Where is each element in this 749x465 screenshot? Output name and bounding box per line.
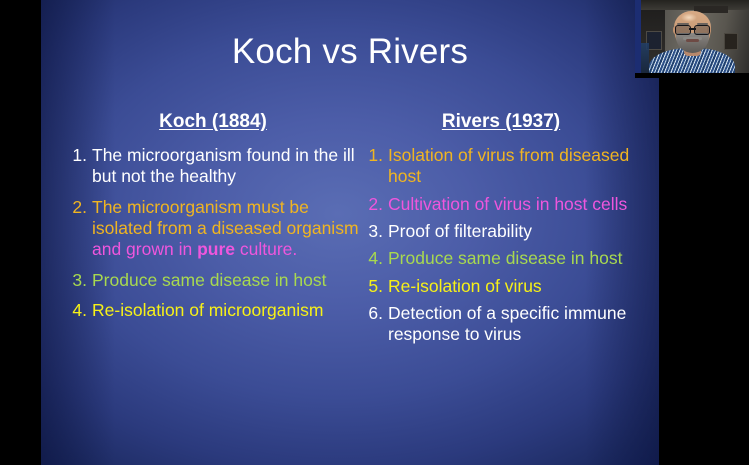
- glasses-lens-left: [675, 25, 691, 35]
- column-koch-heading: Koch (1884): [63, 112, 363, 133]
- list-item-number: 1.: [359, 145, 383, 166]
- text-run: Detection of a specific immune response …: [388, 303, 626, 344]
- webcam-bottom-bar: [635, 73, 749, 78]
- text-run: pure: [197, 239, 235, 259]
- text-run: Produce same disease in host: [92, 270, 326, 290]
- list-item: 4.Re-isolation of microorganism: [63, 300, 363, 321]
- list-item-text: Detection of a specific immune response …: [388, 303, 626, 344]
- presentation-slide: Koch vs Rivers Koch (1884) 1.The microor…: [41, 0, 659, 465]
- list-item-number: 3.: [63, 270, 87, 291]
- list-item-number: 2.: [63, 197, 87, 218]
- webcam-left-edge-band: [635, 0, 641, 78]
- webcam-video-scene: [635, 0, 749, 78]
- column-koch: Koch (1884) 1.The microorganism found in…: [63, 112, 363, 330]
- list-item: 1.The microorganism found in the ill but…: [63, 145, 363, 188]
- presenter-mouth: [686, 39, 699, 41]
- list-item-text: Proof of filterability: [388, 221, 532, 241]
- list-item-number: 4.: [63, 300, 87, 321]
- list-item: 2.The microorganism must be isolated fro…: [63, 197, 363, 261]
- glasses-lens-right: [694, 25, 710, 35]
- list-item-text: Re-isolation of virus: [388, 276, 542, 296]
- list-item: 5.Re-isolation of virus: [359, 276, 649, 297]
- list-item-number: 1.: [63, 145, 87, 166]
- screen-capture-frame: Koch vs Rivers Koch (1884) 1.The microor…: [0, 0, 749, 465]
- text-run: Re-isolation of microorganism: [92, 300, 323, 320]
- column-rivers: Rivers (1937) 1.Isolation of virus from …: [359, 112, 649, 352]
- background-picture-left: [646, 31, 662, 50]
- background-ceiling: [635, 0, 749, 10]
- list-item-text: Re-isolation of microorganism: [92, 300, 323, 320]
- list-item: 3.Proof of filterability: [359, 221, 649, 242]
- list-item-number: 2.: [359, 194, 383, 215]
- text-run: Cultivation of virus in host cells: [388, 194, 627, 214]
- list-item-number: 6.: [359, 303, 383, 324]
- list-item: 1.Isolation of virus from diseased host: [359, 145, 649, 188]
- text-run: Re-isolation of virus: [388, 276, 542, 296]
- list-item: 4.Produce same disease in host: [359, 248, 649, 269]
- list-item-text: The microorganism found in the ill but n…: [92, 145, 355, 186]
- background-picture-right: [724, 33, 739, 51]
- text-run: Proof of filterability: [388, 221, 532, 241]
- presenter-webcam-thumbnail[interactable]: [635, 0, 749, 78]
- text-run: The microorganism must be isolated from …: [92, 197, 359, 238]
- text-run: and grown in: [92, 239, 197, 259]
- text-run: culture.: [235, 239, 297, 259]
- text-run: Produce same disease in host: [388, 248, 622, 268]
- list-item-text: Isolation of virus from diseased host: [388, 145, 629, 186]
- list-item-text: The microorganism must be isolated from …: [92, 197, 359, 260]
- list-item-text: Cultivation of virus in host cells: [388, 194, 627, 214]
- list-item-text: Produce same disease in host: [388, 248, 622, 268]
- rivers-postulates-list: 1.Isolation of virus from diseased host2…: [359, 145, 649, 346]
- list-item: 2.Cultivation of virus in host cells: [359, 194, 649, 215]
- text-run: Isolation of virus from diseased host: [388, 145, 629, 186]
- presenter-head-highlight: [681, 13, 697, 22]
- list-item-number: 5.: [359, 276, 383, 297]
- list-item: 3.Produce same disease in host: [63, 270, 363, 291]
- list-item: 6.Detection of a specific immune respons…: [359, 303, 649, 346]
- text-run: The microorganism found in the ill but n…: [92, 145, 355, 186]
- list-item-text: Produce same disease in host: [92, 270, 326, 290]
- list-item-number: 3.: [359, 221, 383, 242]
- column-rivers-heading: Rivers (1937): [359, 112, 649, 133]
- presenter-glasses: [675, 25, 710, 33]
- koch-postulates-list: 1.The microorganism found in the ill but…: [63, 145, 363, 321]
- glasses-bridge: [689, 28, 697, 30]
- list-item-number: 4.: [359, 248, 383, 269]
- slide-title: Koch vs Rivers: [41, 34, 659, 69]
